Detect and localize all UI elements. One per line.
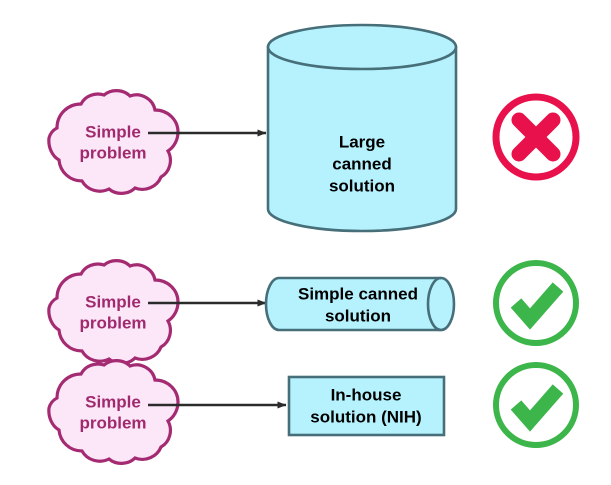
check-mark	[516, 287, 558, 319]
problem-cloud-3-line2: problem	[79, 413, 146, 432]
problem-cloud-1-line1: Simple	[85, 122, 141, 141]
cylinder-top	[268, 25, 456, 69]
problem-cloud-1-line2: problem	[79, 143, 146, 162]
problem-cloud-2-line2: problem	[79, 313, 146, 332]
solution-1-line1: Large	[339, 132, 385, 151]
problem-cloud-2-line1: Simple	[85, 292, 141, 311]
check-circle-icon-3[interactable]	[496, 365, 576, 445]
row-in-house: Simple problem In-house solution (NIH)	[49, 361, 576, 464]
row-large-canned: Simple problem Large canned solution	[49, 25, 576, 231]
cloud-outline	[49, 361, 178, 464]
solution-2-line2: solution	[325, 306, 391, 325]
solution-3-line2: solution (NIH)	[310, 407, 421, 426]
problem-cloud-3-line1: Simple	[85, 392, 141, 411]
diagram-canvas: Simple problem Large canned solution Sim…	[0, 0, 611, 485]
solution-2-line1: Simple canned	[298, 284, 418, 303]
cross-mark	[519, 120, 553, 154]
cross-circle-icon[interactable]	[496, 97, 576, 177]
solution-cylinder-simple[interactable]: Simple canned solution	[266, 278, 454, 330]
problem-cloud-1[interactable]: Simple problem	[49, 91, 178, 194]
solution-cylinder-large[interactable]: Large canned solution	[268, 25, 456, 231]
problem-cloud-3[interactable]: Simple problem	[49, 361, 178, 464]
solution-1-line2: canned	[332, 154, 392, 173]
row-simple-canned: Simple problem Simple canned solution	[49, 261, 576, 364]
solution-1-line3: solution	[329, 176, 395, 195]
solution-3-line1: In-house	[331, 385, 402, 404]
check-mark	[516, 389, 558, 421]
problem-cloud-2[interactable]: Simple problem	[49, 261, 178, 364]
cloud-outline	[49, 91, 178, 194]
check-circle-icon-2[interactable]	[496, 263, 576, 343]
cloud-outline	[49, 261, 178, 364]
solution-box-in-house[interactable]: In-house solution (NIH)	[289, 377, 444, 435]
